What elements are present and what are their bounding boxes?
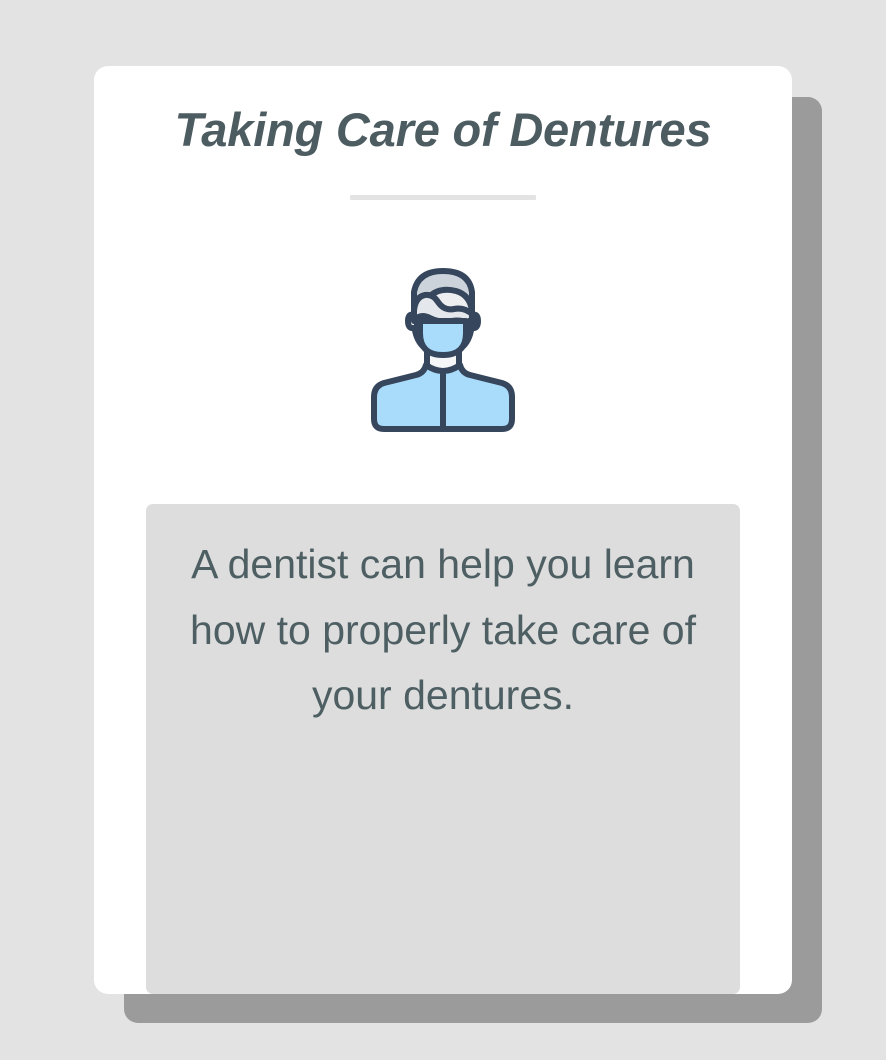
illustration-container <box>94 261 792 438</box>
slide-card: Taking Care of Dentures <box>94 66 792 994</box>
slide-stage: Taking Care of Dentures <box>0 0 886 1060</box>
title-divider <box>350 195 536 200</box>
body-text-panel: A dentist can help you learn how to prop… <box>146 504 740 994</box>
body-text: A dentist can help you learn how to prop… <box>182 532 704 729</box>
dentist-with-mask-icon <box>370 261 516 438</box>
page-title: Taking Care of Dentures <box>94 102 792 157</box>
